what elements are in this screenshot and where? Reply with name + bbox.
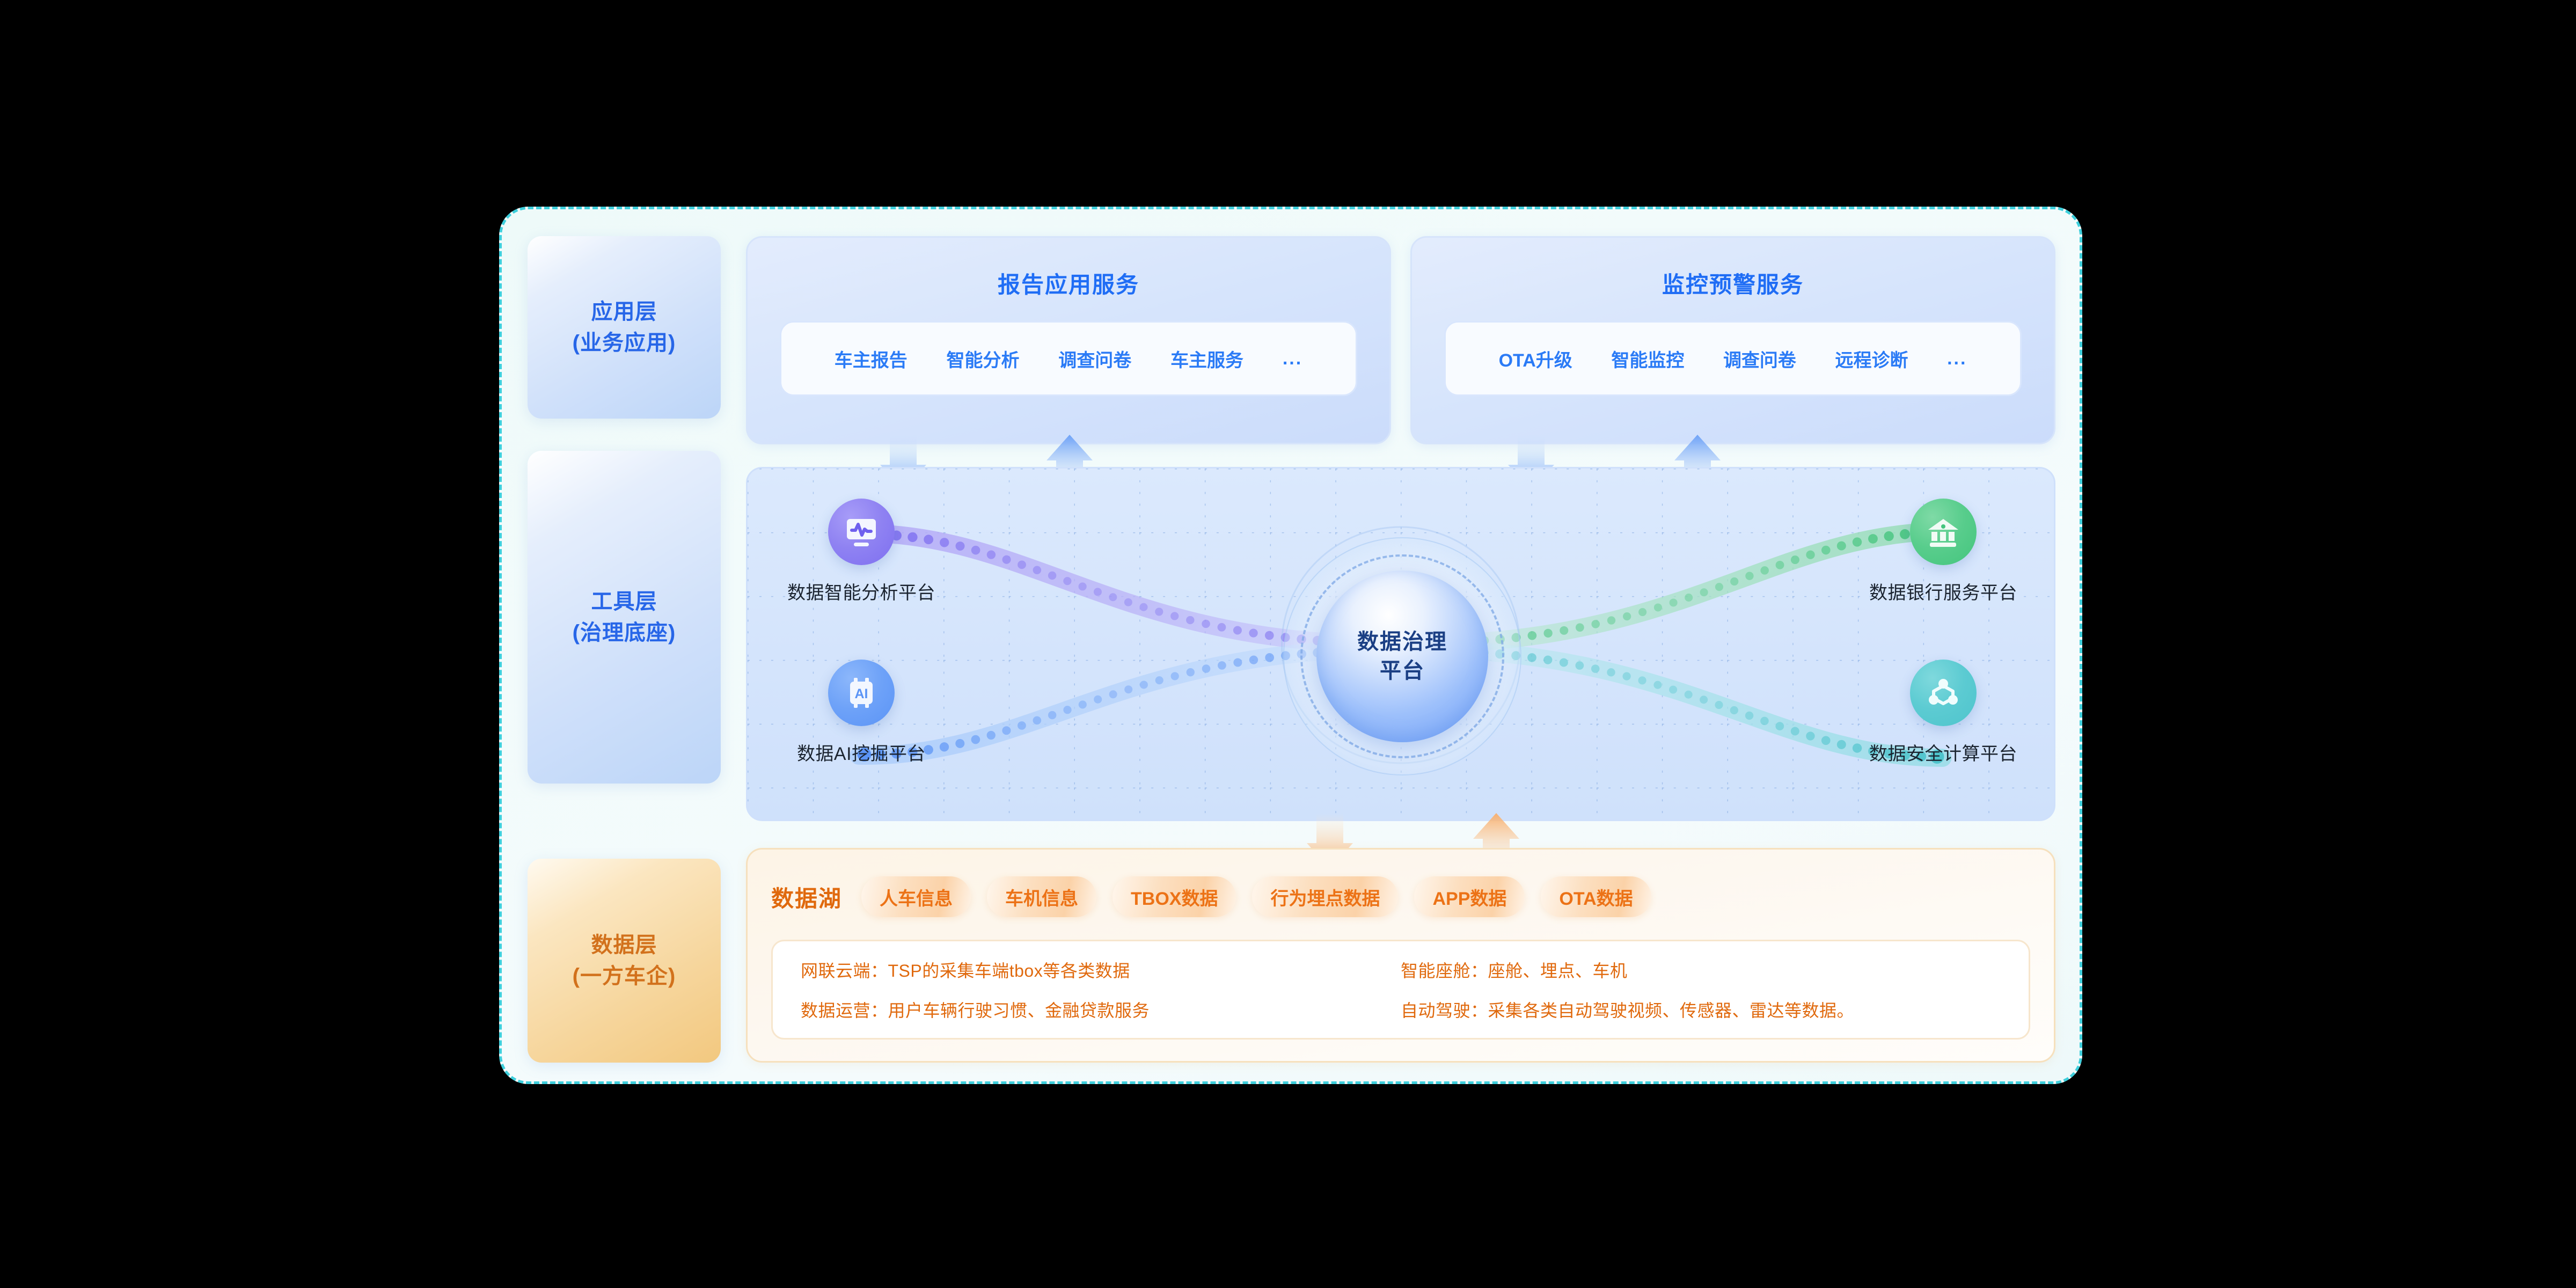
data-lake-band: 数据湖 人车信息 车机信息 TBOX数据 行为埋点数据 APP数据 OTA数据 … bbox=[746, 848, 2055, 1063]
platform-node-bank[interactable]: 数据银行服务平台 bbox=[1863, 499, 2024, 604]
platform-node-ai[interactable]: AI 数据AI挖掘平台 bbox=[781, 660, 942, 765]
data-lake-tag-5[interactable]: OTA数据 bbox=[1541, 876, 1651, 917]
service-card-report-title: 报告应用服务 bbox=[998, 267, 1139, 299]
tool-band: 数据智能分析平台 AI 数据AI挖掘平台 bbox=[746, 467, 2055, 821]
description-column-left: 网联云端：TSP的采集车端tbox等各类数据 数据运营：用户车辆行驶习惯、金融贷… bbox=[801, 960, 1401, 1020]
service-card-monitor-title: 监控预警服务 bbox=[1662, 267, 1804, 299]
description-line-operations: 数据运营：用户车辆行驶习惯、金融贷款服务 bbox=[801, 997, 1401, 1022]
service-chip-monitor-3[interactable]: 远程诊断 bbox=[1835, 346, 1908, 372]
platform-node-secure[interactable]: 数据安全计算平台 bbox=[1863, 660, 2024, 765]
architecture-diagram: 应用层 (业务应用) 工具层 (治理底座) 数据层 (一方车企) 报告应用服务 … bbox=[499, 207, 2082, 1084]
platform-node-bank-label: 数据银行服务平台 bbox=[1869, 578, 2017, 604]
layer-subtitle-tool: (治理底座) bbox=[573, 617, 676, 648]
hub-core: 数据治理 平台 bbox=[1316, 570, 1488, 742]
layer-subtitle-data: (一方车企) bbox=[573, 961, 676, 992]
data-lake-tag-0[interactable]: 人车信息 bbox=[861, 876, 971, 917]
application-band: 报告应用服务 车主报告 智能分析 调查问卷 车主服务 ... 监控预警服务 OT… bbox=[746, 236, 2055, 444]
layer-title-tool: 工具层 bbox=[591, 586, 657, 617]
platform-node-secure-label: 数据安全计算平台 bbox=[1869, 739, 2017, 765]
central-hub[interactable]: 数据治理 平台 bbox=[1316, 570, 1488, 742]
description-line-cloud: 网联云端：TSP的采集车端tbox等各类数据 bbox=[801, 957, 1401, 982]
service-chip-report-3[interactable]: 车主服务 bbox=[1170, 346, 1243, 372]
platform-node-analysis[interactable]: 数据智能分析平台 bbox=[781, 499, 942, 604]
description-column-right: 智能座舱：座舱、埋点、车机 自动驾驶：采集各类自动驾驶视频、传感器、雷达等数据。 bbox=[1401, 960, 2001, 1020]
monitor-pulse-icon bbox=[828, 499, 895, 565]
diagram-stage: 报告应用服务 车主报告 智能分析 调查问卷 车主服务 ... 监控预警服务 OT… bbox=[746, 236, 2055, 1063]
data-lake-tag-2[interactable]: TBOX数据 bbox=[1113, 876, 1236, 917]
data-lake-title: 数据湖 bbox=[771, 881, 842, 913]
service-chip-monitor-2[interactable]: 调查问卷 bbox=[1723, 346, 1796, 372]
platform-node-analysis-label: 数据智能分析平台 bbox=[787, 578, 935, 604]
layer-box-application[interactable]: 应用层 (业务应用) bbox=[528, 236, 721, 419]
service-card-report[interactable]: 报告应用服务 车主报告 智能分析 调查问卷 车主服务 ... bbox=[746, 236, 1391, 444]
layer-box-tool[interactable]: 工具层 (治理底座) bbox=[528, 451, 721, 784]
ai-chip-icon: AI bbox=[828, 660, 895, 726]
data-lake-tag-4[interactable]: APP数据 bbox=[1414, 876, 1525, 917]
layer-subtitle-application: (业务应用) bbox=[573, 327, 676, 358]
shield-network-icon bbox=[1910, 660, 1977, 726]
service-card-monitor-chipbar: OTA升级 智能监控 调查问卷 远程诊断 ... bbox=[1444, 321, 2022, 396]
layer-title-data: 数据层 bbox=[591, 930, 657, 961]
layer-rail: 应用层 (业务应用) 工具层 (治理底座) 数据层 (一方车企) bbox=[528, 236, 721, 1063]
platform-node-ai-label: 数据AI挖掘平台 bbox=[797, 739, 926, 765]
layer-title-application: 应用层 bbox=[591, 296, 657, 327]
service-card-monitor[interactable]: 监控预警服务 OTA升级 智能监控 调查问卷 远程诊断 ... bbox=[1410, 236, 2055, 444]
service-chip-report-2[interactable]: 调查问卷 bbox=[1058, 346, 1131, 372]
description-line-cockpit: 智能座舱：座舱、埋点、车机 bbox=[1401, 957, 2001, 982]
service-chip-monitor-0[interactable]: OTA升级 bbox=[1499, 346, 1572, 372]
svg-text:AI: AI bbox=[855, 686, 868, 701]
bank-building-icon bbox=[1910, 499, 1977, 565]
hub-label-line1: 数据治理 bbox=[1357, 627, 1447, 656]
service-chip-report-1[interactable]: 智能分析 bbox=[947, 346, 1020, 372]
service-chip-report-0[interactable]: 车主报告 bbox=[835, 346, 908, 372]
data-lake-description-panel: 网联云端：TSP的采集车端tbox等各类数据 数据运营：用户车辆行驶习惯、金融贷… bbox=[771, 940, 2030, 1040]
data-lake-tag-1[interactable]: 车机信息 bbox=[987, 876, 1096, 917]
service-card-report-chipbar: 车主报告 智能分析 调查问卷 车主服务 ... bbox=[780, 321, 1357, 396]
service-chip-report-more[interactable]: ... bbox=[1283, 348, 1302, 369]
service-chip-monitor-1[interactable]: 智能监控 bbox=[1611, 346, 1684, 372]
service-chip-monitor-more[interactable]: ... bbox=[1947, 348, 1967, 369]
layer-box-data[interactable]: 数据层 (一方车企) bbox=[528, 859, 721, 1063]
hub-label-line2: 平台 bbox=[1380, 656, 1425, 685]
description-line-autodrive: 自动驾驶：采集各类自动驾驶视频、传感器、雷达等数据。 bbox=[1401, 997, 2001, 1022]
data-lake-tag-3[interactable]: 行为埋点数据 bbox=[1252, 876, 1398, 917]
data-lake-header: 数据湖 人车信息 车机信息 TBOX数据 行为埋点数据 APP数据 OTA数据 bbox=[771, 872, 2030, 921]
